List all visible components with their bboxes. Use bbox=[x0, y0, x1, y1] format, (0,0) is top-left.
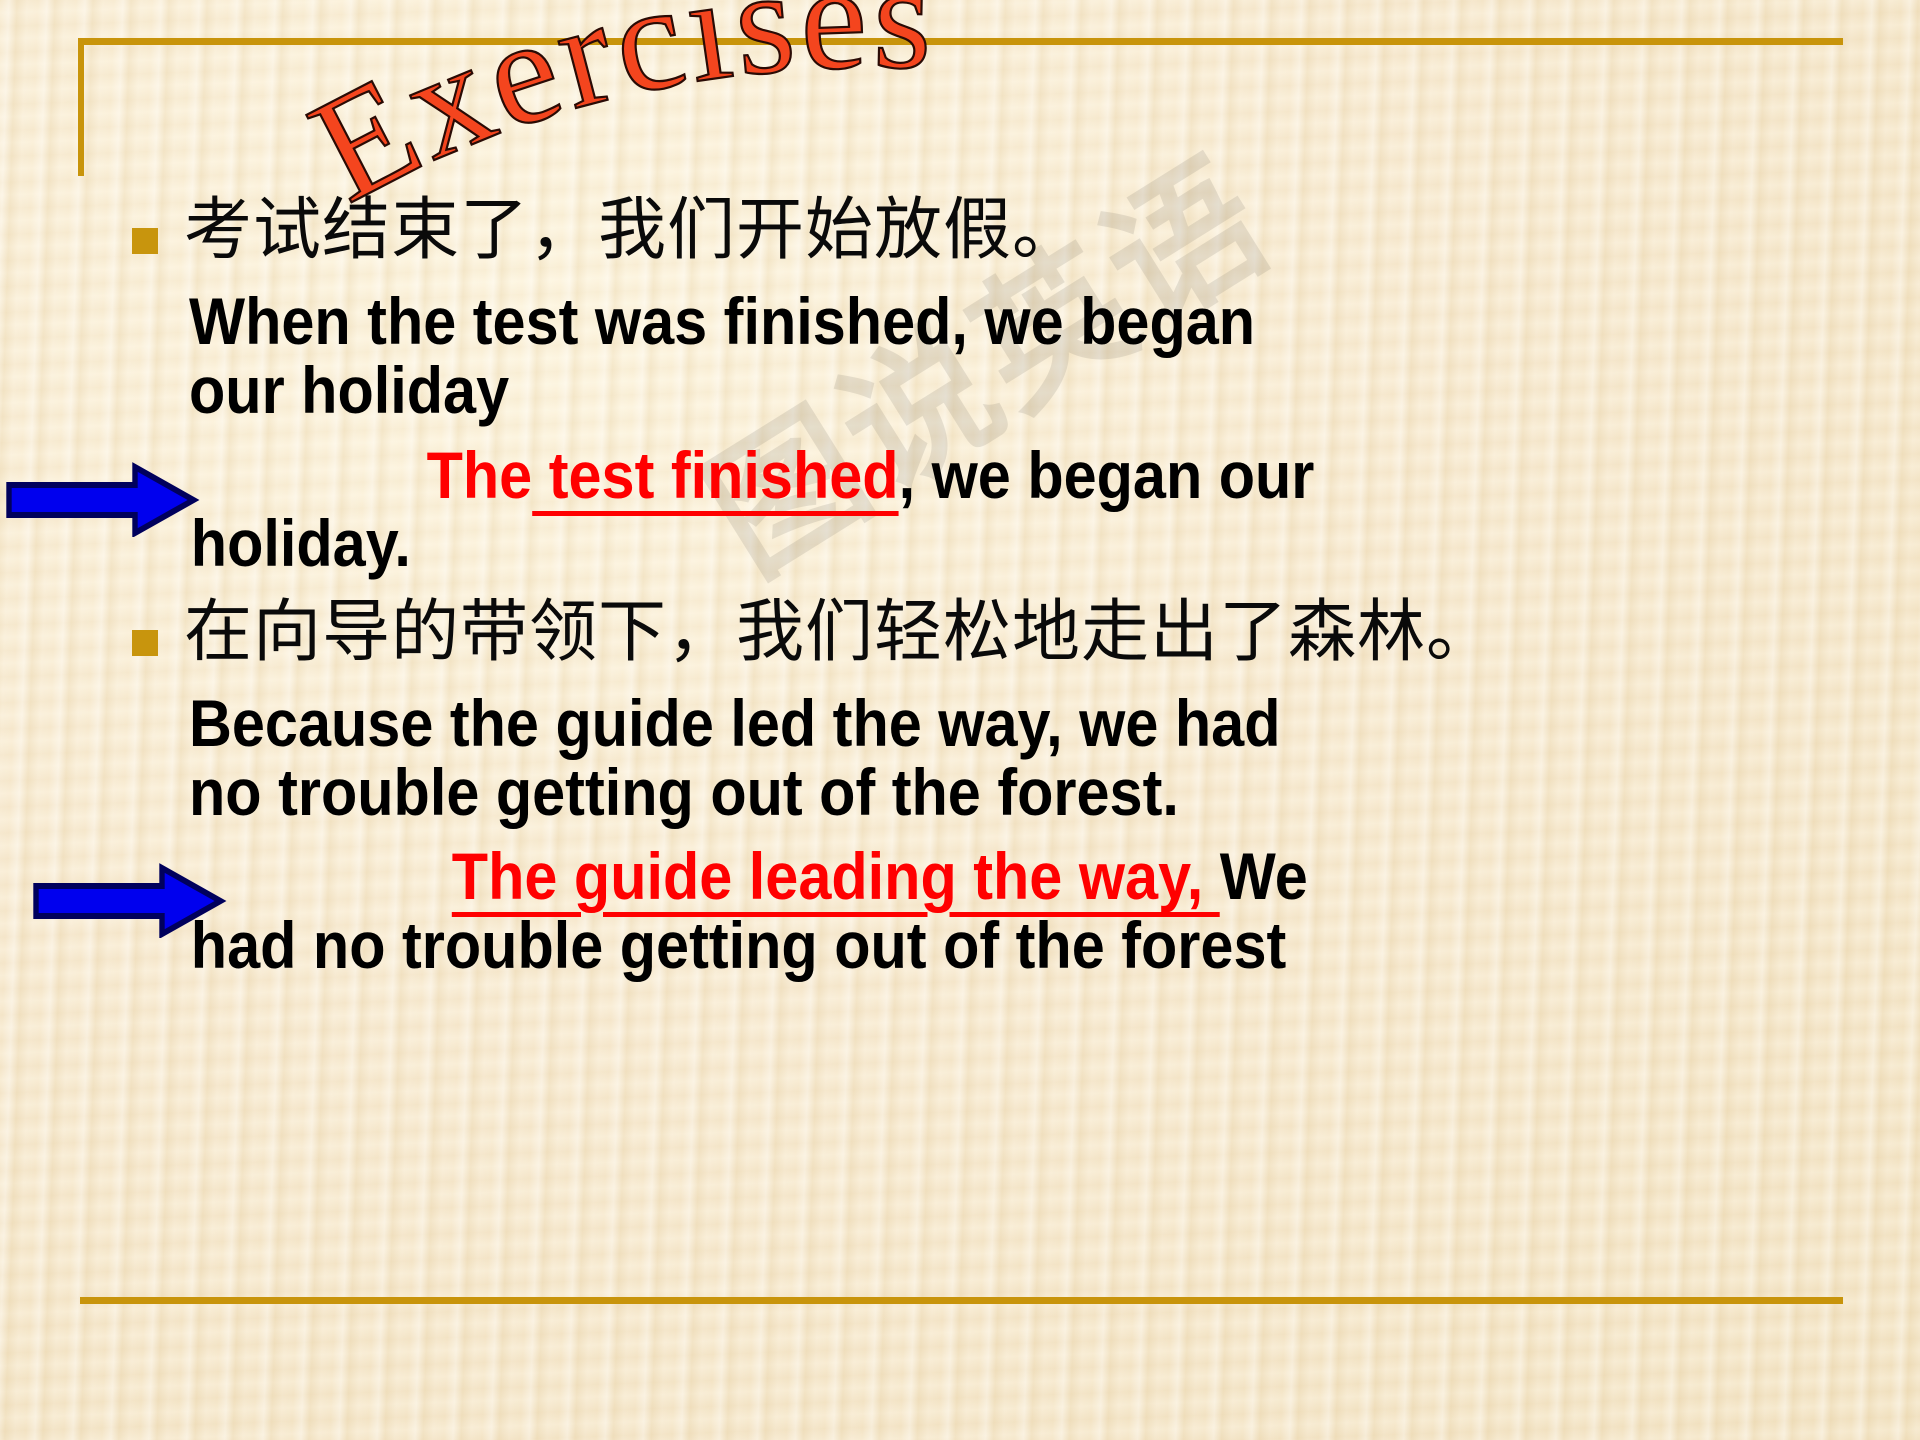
rewrite-2-red-underlined: The guide leading the way, bbox=[452, 839, 1220, 913]
rewrite-1-red-plain: The bbox=[427, 438, 533, 512]
left-gold-rule bbox=[78, 38, 84, 176]
chinese-sentence-1: 考试结束了，我们开始放假。 bbox=[184, 196, 1081, 265]
bullet-row-1: 考试结束了，我们开始放假。 bbox=[0, 196, 1920, 265]
rewrite-2-wrap-line: had no trouble getting out of the forest bbox=[0, 911, 1692, 980]
bottom-gold-rule bbox=[80, 1297, 1843, 1304]
english-original-1-line-1: When the test was finished, we began bbox=[0, 287, 1692, 356]
rewrite-1-red-underlined: test finished bbox=[532, 438, 898, 512]
english-original-2-line-2: no trouble getting out of the forest. bbox=[0, 758, 1692, 827]
slide-title-wordart: Exercises Exercises bbox=[300, 10, 1300, 210]
english-original-2-line-1: Because the guide led the way, we had bbox=[0, 689, 1692, 758]
rewrite-line-1: The test finished, we began our bbox=[0, 441, 1692, 510]
rewrite-2-black-tail: We bbox=[1220, 839, 1308, 913]
rewrite-line-2: The guide leading the way, We bbox=[0, 842, 1692, 911]
square-bullet-icon bbox=[132, 630, 158, 656]
slide-body: 考试结束了，我们开始放假。 When the test was finished… bbox=[0, 196, 1920, 980]
bullet-row-2: 在向导的带领下，我们轻松地走出了森林。 bbox=[0, 598, 1920, 667]
chinese-sentence-2: 在向导的带领下，我们轻松地走出了森林。 bbox=[184, 598, 1495, 667]
rewrite-1-wrap-line: holiday. bbox=[0, 509, 1692, 578]
slide-canvas: 图说英语 Exercises Exercises 考试结束了，我们开始放假。 bbox=[0, 0, 1920, 1440]
rewrite-1-black-tail: , we began our bbox=[899, 438, 1315, 512]
english-original-1-line-2: our holiday bbox=[0, 356, 1692, 425]
square-bullet-icon bbox=[132, 228, 158, 254]
